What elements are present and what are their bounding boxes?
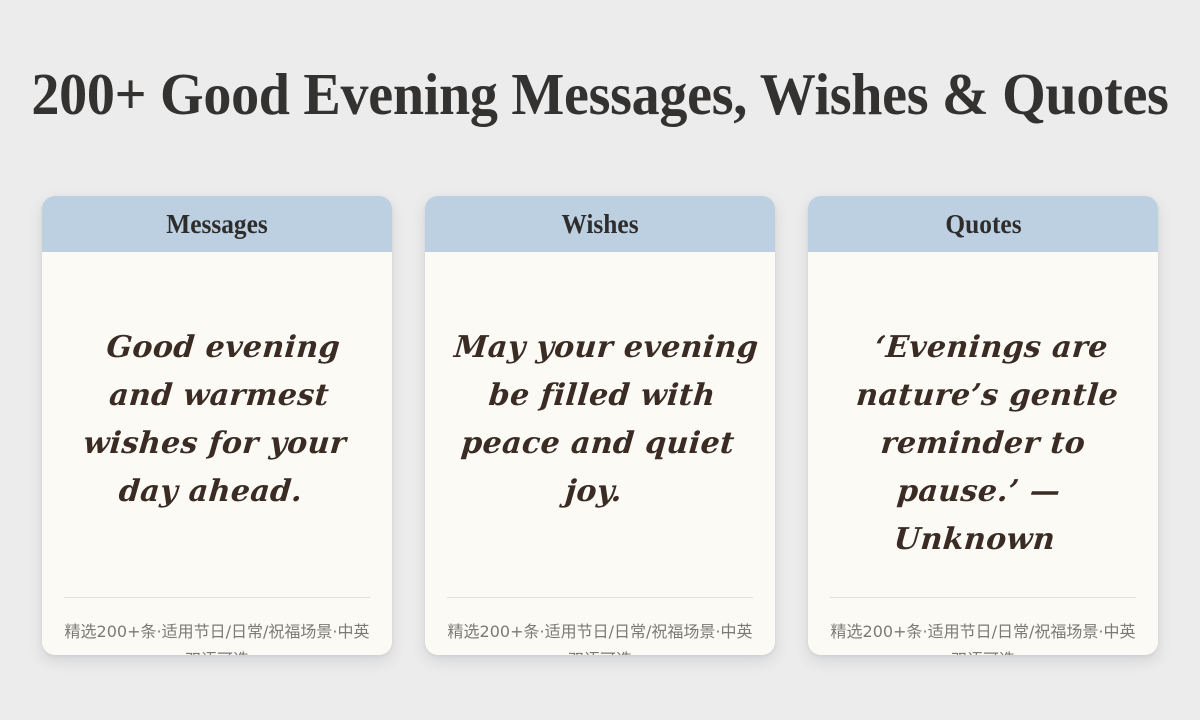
card-header-label: Messages [166, 209, 268, 239]
card-body-wishes: May your evening be filled with peace an… [425, 252, 775, 655]
card-body-messages: Good evening and warmest wishes for your… [42, 252, 392, 655]
card-divider [447, 597, 753, 598]
card-footnote: 精选200+条·适用节日/日常/祝福场景·中英双语可选 [441, 618, 759, 655]
card-wishes[interactable]: Wishes May your evening be filled with p… [425, 196, 775, 655]
card-header-quotes: Quotes [808, 196, 1158, 252]
card-header-wishes: Wishes [425, 196, 775, 252]
card-divider [64, 597, 370, 598]
card-messages[interactable]: Messages Good evening and warmest wishes… [42, 196, 392, 655]
card-row: Messages Good evening and warmest wishes… [42, 196, 1158, 655]
card-header-label: Wishes [561, 209, 638, 239]
card-body-quotes: ‘Evenings are nature’s gentle reminder t… [808, 252, 1158, 655]
card-quotes[interactable]: Quotes ‘Evenings are nature’s gentle rem… [808, 196, 1158, 655]
card-quote: ‘Evenings are nature’s gentle reminder t… [820, 324, 1147, 564]
card-header-label: Quotes [945, 209, 1021, 239]
card-footnote: 精选200+条·适用节日/日常/祝福场景·中英双语可选 [824, 618, 1142, 655]
card-header-messages: Messages [42, 196, 392, 252]
card-quote: May your evening be filled with peace an… [439, 324, 762, 516]
card-footnote: 精选200+条·适用节日/日常/祝福场景·中英双语可选 [58, 618, 376, 655]
card-quote: Good evening and warmest wishes for your… [56, 324, 379, 516]
card-divider [830, 597, 1136, 598]
page-title: 200+ Good Evening Messages, Wishes & Quo… [30, 58, 1170, 130]
